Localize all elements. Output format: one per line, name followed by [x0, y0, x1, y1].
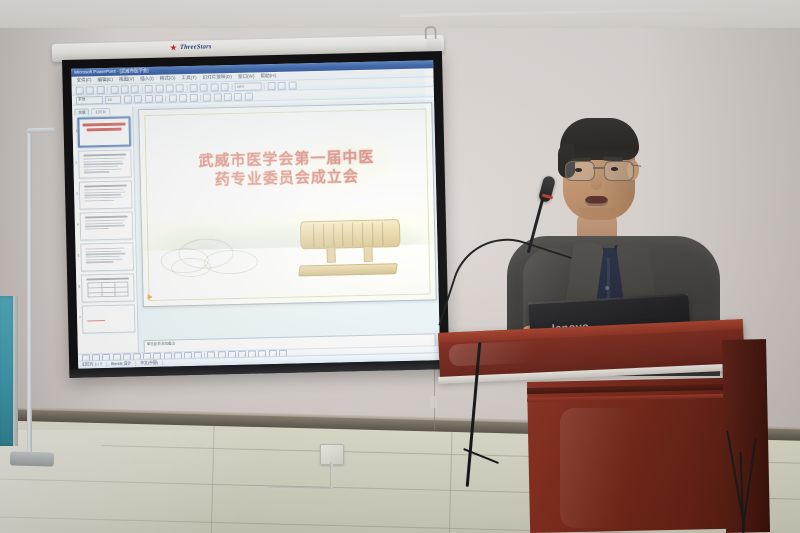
toolbar-separator [264, 83, 265, 89]
print-icon[interactable] [110, 85, 118, 93]
bullets-icon[interactable] [203, 93, 211, 101]
zoom-combo[interactable]: 48% [235, 82, 262, 91]
powerpoint-window: Microsoft PowerPoint - [武威市医学会] 文件(F) 编辑… [71, 60, 440, 368]
status-language: 中文(中国) [136, 361, 163, 367]
mouth [585, 196, 608, 206]
slide-thumbnail-pane[interactable]: 大纲 幻灯片 1 2 [72, 106, 139, 355]
toolbar-separator [200, 94, 201, 100]
insert-table-icon[interactable] [210, 83, 218, 91]
open-icon[interactable] [86, 86, 94, 94]
wall-cable-clip [430, 396, 437, 408]
ppt-workspace: 大纲 幻灯片 1 2 [72, 99, 440, 355]
sign-pole-base [10, 451, 54, 466]
nose [591, 172, 602, 190]
format-painter-icon[interactable] [176, 84, 184, 92]
italic-icon[interactable] [134, 95, 142, 103]
menu-edit[interactable]: 编辑(E) [97, 77, 112, 83]
thumbnail-number: 4 [77, 223, 79, 227]
decrease-font-icon[interactable] [234, 92, 242, 100]
align-center-icon[interactable] [179, 94, 187, 102]
new-slide-icon[interactable] [278, 81, 286, 89]
slide-thumbnail-5[interactable]: 5 [80, 242, 134, 271]
eye-right [611, 167, 618, 171]
new-icon[interactable] [76, 86, 84, 94]
toolbar-separator [231, 83, 232, 89]
copy-icon[interactable] [155, 84, 163, 92]
sign-pole [27, 130, 32, 460]
font-color-icon[interactable] [245, 92, 253, 100]
menu-help[interactable]: 帮助(H) [260, 73, 276, 79]
slide-title[interactable]: 武威市医学会第一届中医 药专业委员会成立会 [155, 147, 419, 192]
font-name-combo[interactable]: 宋体 [76, 96, 103, 105]
thumbnail-number: 7 [79, 316, 81, 320]
thumbnail-number: 6 [78, 285, 80, 289]
sign-pole-top [27, 128, 55, 133]
bamboo-stand-left [326, 247, 335, 263]
toolbar-separator [165, 95, 166, 101]
socket-conduit [330, 462, 333, 488]
media-play-icon[interactable] [148, 294, 153, 300]
menu-slideshow[interactable]: 幻灯片放映(D) [202, 74, 231, 81]
screen-brand-label: ThreeStars [180, 43, 212, 51]
thumbnail-table-icon [87, 282, 128, 298]
status-design-template: Blends 设计 [107, 361, 136, 367]
podium-body-highlight [560, 408, 650, 528]
menu-view[interactable]: 视图(V) [119, 76, 134, 82]
screen-brand: ThreeStars [170, 43, 212, 51]
underline-icon[interactable] [144, 94, 152, 102]
cloud-motif-icon [160, 228, 290, 282]
increase-font-icon[interactable] [224, 93, 232, 101]
align-left-icon[interactable] [169, 94, 177, 102]
menu-window[interactable]: 窗口(W) [238, 73, 255, 79]
spellcheck-icon[interactable] [131, 85, 139, 93]
menu-file[interactable]: 文件(F) [76, 77, 91, 83]
menu-format[interactable]: 格式(O) [160, 75, 176, 81]
current-slide[interactable]: 武威市医学会第一届中医 药专业委员会成立会 [138, 102, 437, 307]
align-right-icon[interactable] [189, 93, 197, 101]
slide-thumbnail-1[interactable]: 1 [77, 116, 131, 147]
toolbar-separator [186, 85, 187, 91]
menu-insert[interactable]: 插入(I) [140, 76, 154, 82]
toolbar-separator [141, 86, 142, 92]
status-slide-counter: 幻灯片 1 / 7 [78, 362, 107, 368]
conference-room-photo: ThreeStars Microsoft PowerPoint - [武威市医学… [0, 0, 800, 533]
slide-thumbnail-7[interactable]: 7 [82, 304, 136, 333]
print-preview-icon[interactable] [121, 85, 129, 93]
eye-left [575, 168, 582, 172]
thumbnail-number: 5 [78, 254, 80, 258]
bamboo-base [298, 263, 397, 276]
numbering-icon[interactable] [214, 93, 222, 101]
notes-placeholder: 单击此处添加备注 [147, 341, 176, 346]
projection-screen: Microsoft PowerPoint - [武威市医学会] 文件(F) 编辑… [62, 51, 449, 378]
shadow-icon[interactable] [155, 94, 163, 102]
slide-thumbnail-4[interactable]: 4 [80, 211, 134, 240]
podium-top-highlight [449, 339, 570, 366]
screen-mount-hook [424, 26, 436, 39]
undo-icon[interactable] [190, 83, 198, 91]
lens-right [604, 161, 634, 181]
bamboo-scroll-icon [291, 216, 409, 278]
slide-thumbnail-6[interactable]: 6 [81, 273, 135, 302]
slide-editor-pane[interactable]: 武威市医学会第一届中医 药专业委员会成立会 [133, 99, 440, 354]
bold-icon[interactable] [124, 95, 132, 103]
star-icon [170, 44, 177, 51]
save-icon[interactable] [96, 86, 104, 94]
menu-tools[interactable]: 工具(T) [181, 75, 196, 81]
paste-icon[interactable] [166, 84, 174, 92]
standing-sign-edge [13, 296, 18, 446]
slide-thumbnail-2[interactable]: 2 [78, 149, 132, 178]
help-icon[interactable] [267, 81, 275, 89]
glasses-bridge [593, 167, 604, 169]
bamboo-roll [300, 219, 401, 249]
screen-surface: Microsoft PowerPoint - [武威市医学会] 文件(F) 编辑… [71, 60, 440, 368]
thumbnail-number: 3 [76, 192, 78, 196]
redo-icon[interactable] [200, 83, 208, 91]
design-icon[interactable] [288, 81, 296, 89]
thumbnail-number: 2 [75, 161, 77, 165]
insert-chart-icon[interactable] [221, 83, 229, 91]
bamboo-stand-right [364, 246, 373, 262]
font-size-combo[interactable]: 18 [105, 95, 121, 103]
shirt-button [605, 286, 609, 290]
toolbar-separator [107, 86, 108, 92]
cut-icon[interactable] [145, 84, 153, 92]
thumbnail-number: 1 [76, 129, 78, 133]
slide-thumbnail-3[interactable]: 3 [79, 180, 133, 209]
thumbnail-list[interactable]: 1 2 [72, 114, 138, 355]
